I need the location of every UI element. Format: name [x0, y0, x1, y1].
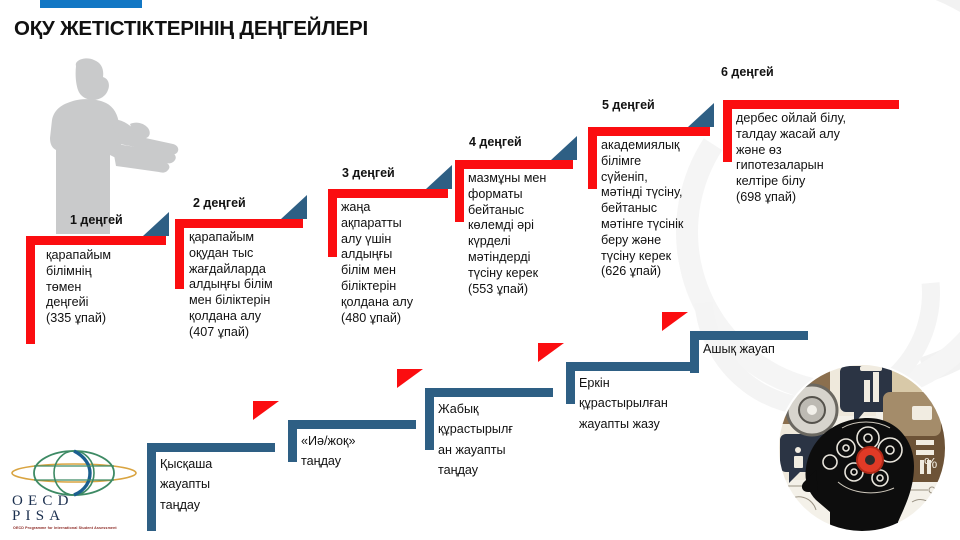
step-arrow-triangle	[551, 136, 577, 160]
brain-gears-collage-image: %	[772, 362, 952, 534]
level-step-1: 1 деңгей қарапайым білімнің төмен деңгей…	[26, 236, 174, 356]
level-label-4: 4 деңгей	[469, 135, 522, 149]
step-arrow-triangle	[662, 312, 688, 331]
step-arrow-triangle	[143, 212, 169, 236]
page-title: ОҚУ ЖЕТІСТІКТЕРІНІҢ ДЕҢГЕЙЛЕРІ	[14, 17, 368, 41]
step-arrow-triangle	[426, 165, 452, 189]
svg-text:%: %	[924, 455, 937, 472]
level-description-2: қарапайым оқудан тыс жағдайларда алдыңғы…	[189, 230, 325, 341]
level-label-2: 2 деңгей	[193, 196, 246, 210]
step-tread	[147, 443, 275, 452]
task-description-2: «Иә/жоқ» таңдау	[301, 431, 427, 472]
teacher-silhouette-icon	[30, 58, 180, 236]
step-riser	[690, 331, 699, 373]
step-tread	[588, 127, 710, 136]
step-riser	[26, 236, 35, 344]
step-arrow-triangle	[397, 369, 423, 388]
logo-wordmark: OECD PISA	[12, 494, 138, 525]
step-riser	[288, 420, 297, 462]
title-accent-bar	[40, 0, 142, 8]
step-riser	[328, 189, 337, 257]
logo-oecd-text: OECD	[12, 494, 138, 509]
task-step-1: Қысқаша жауапты таңдау	[147, 443, 287, 538]
step-tread	[455, 160, 573, 169]
level-label-6: 6 деңгей	[721, 65, 774, 79]
level-description-1: қарапайым білімнің төмен деңгейі (335 ұп…	[46, 248, 172, 327]
level-description-3: жаңа ақпаратты алу үшін алдыңғы білім ме…	[341, 200, 459, 326]
level-label-5: 5 деңгей	[602, 98, 655, 112]
level-step-4: 4 деңгей мазмұны мен форматы бейтаныс кө…	[455, 160, 603, 270]
level-label-1: 1 деңгей	[70, 213, 123, 227]
level-step-2: 2 деңгей қарапайым оқудан тыс жағдайлард…	[175, 219, 327, 324]
step-arrow-triangle	[253, 401, 279, 420]
step-riser	[455, 160, 464, 222]
step-riser	[147, 443, 156, 531]
step-tread	[425, 388, 553, 397]
step-riser	[175, 219, 184, 289]
level-step-5: 5 деңгей академиялық білімге сүйеніп, мә…	[588, 127, 728, 237]
step-arrow-triangle	[688, 103, 714, 127]
step-riser	[425, 388, 434, 450]
oecd-pisa-logo: OECD PISA OECD Programme for Internation…	[8, 448, 140, 534]
task-step-3: Жабық құрастырылғ ан жауапты таңдау	[425, 388, 565, 493]
task-description-1: Қысқаша жауапты таңдау	[160, 454, 286, 515]
level-step-3: 3 деңгей жаңа ақпаратты алу үшін алдыңғы…	[328, 189, 470, 299]
task-step-4: Еркін құрастырылған жауапты жазу	[566, 362, 706, 457]
slide-canvas: ОҚУ ЖЕТІСТІКТЕРІНІҢ ДЕҢГЕЙЛЕРІ 1 деңгей …	[0, 0, 960, 540]
task-description-3: Жабық құрастырылғ ан жауапты таңдау	[438, 399, 566, 481]
task-step-2: «Иә/жоқ» таңдау	[288, 420, 428, 515]
step-tread	[566, 362, 694, 371]
step-tread	[328, 189, 448, 198]
step-tread	[26, 236, 166, 245]
level-description-4: мазмұны мен форматы бейтаныс көлемді әрі…	[468, 171, 594, 297]
step-tread	[175, 219, 303, 228]
task-description-5: Ашық жауап	[703, 339, 827, 359]
step-arrow-triangle	[538, 343, 564, 362]
step-arrow-triangle	[281, 195, 307, 219]
level-step-6: 6 деңгей дербес ойлай білу, талдау жасай…	[723, 100, 908, 210]
step-tread	[288, 420, 416, 429]
level-description-6: дербес ойлай білу, талдау жасай алу және…	[736, 111, 911, 206]
logo-pisa-text: PISA	[12, 509, 138, 524]
globe-icon	[8, 448, 140, 498]
step-riser	[566, 362, 575, 404]
level-label-3: 3 деңгей	[342, 166, 395, 180]
level-description-5: академиялық білімге сүйеніп, мәтінді түс…	[601, 138, 719, 280]
step-tread	[723, 100, 899, 109]
step-riser	[723, 100, 732, 162]
logo-tagline: OECD Programme for International Student…	[13, 526, 137, 530]
step-riser	[588, 127, 597, 189]
